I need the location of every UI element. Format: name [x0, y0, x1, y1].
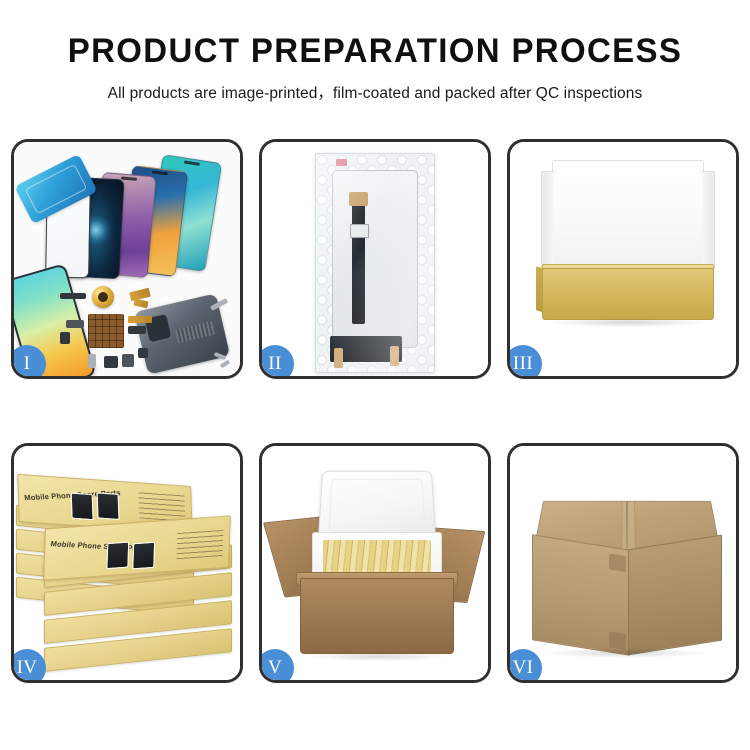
- camera-ring-icon: [92, 286, 114, 308]
- drop-shadow: [308, 652, 448, 661]
- spare-part-flex: [128, 316, 152, 323]
- chip-grid-part: [88, 314, 124, 348]
- phone-notch: [184, 160, 200, 165]
- spare-part: [138, 348, 148, 358]
- step-panel-1: I: [11, 139, 243, 379]
- page-title: PRODUCT PREPARATION PROCESS: [11, 34, 739, 70]
- housing-detail: [175, 321, 215, 343]
- phone-notch: [152, 170, 168, 175]
- box-screen-graphic: [97, 492, 120, 520]
- pink-label: [336, 159, 347, 166]
- carton-face-right: [628, 535, 722, 656]
- step-2-image: II: [262, 142, 488, 376]
- ic-chip: [350, 224, 369, 238]
- gold-box-front: [542, 268, 714, 320]
- step-3-image: III: [510, 142, 736, 376]
- connector: [349, 192, 368, 206]
- spare-part: [104, 356, 118, 368]
- spare-part: [60, 332, 70, 344]
- step-5-image: V: [262, 446, 488, 680]
- step-panel-4: Mobile Phone Spare Parts Mobile Phone Sp…: [11, 443, 243, 683]
- spare-part: [60, 293, 86, 299]
- header: PRODUCT PREPARATION PROCESS All products…: [0, 0, 750, 103]
- gold-tab: [334, 348, 343, 368]
- box-spec-lines: [176, 528, 223, 559]
- box-screen-graphic: [106, 542, 129, 570]
- step-panel-5: V: [259, 443, 491, 683]
- white-box-lid: [552, 160, 704, 278]
- box-screen-graphic: [71, 493, 94, 521]
- process-step-grid: I II: [11, 139, 739, 683]
- step-6-image: VI: [510, 446, 736, 680]
- spare-part: [128, 326, 146, 334]
- lcd-panel: [332, 170, 418, 348]
- box-spec-lines: [138, 490, 185, 521]
- gold-tab: [390, 346, 399, 366]
- box-screen-graphic: [132, 542, 155, 570]
- drop-shadow: [550, 318, 706, 327]
- step-panel-6: VI: [507, 443, 739, 683]
- carton-notch: [609, 553, 626, 572]
- bubble-wrap-bag: [315, 153, 435, 373]
- step-1-image: I: [14, 142, 240, 376]
- carton-front: [300, 578, 454, 654]
- page-subtitle: All products are image-printed，film-coat…: [0, 81, 750, 103]
- step-panel-2: II: [259, 139, 491, 379]
- retail-box-stack: Mobile Phone Spare Parts Mobile Phone Sp…: [14, 462, 240, 672]
- spare-part: [122, 354, 134, 367]
- flex-cable: [352, 198, 365, 324]
- carton-face-left: [532, 534, 630, 656]
- spare-part: [88, 354, 96, 368]
- step-panel-3: III: [507, 139, 739, 379]
- phone-notch: [121, 176, 137, 180]
- spare-part: [66, 320, 84, 328]
- step-4-image: Mobile Phone Spare Parts Mobile Phone Sp…: [14, 446, 240, 680]
- drop-shadow: [544, 648, 706, 658]
